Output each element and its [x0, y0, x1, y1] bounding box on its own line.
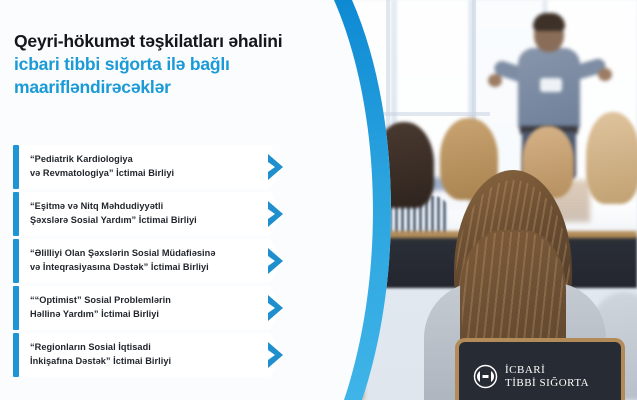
accent-bar — [13, 239, 19, 283]
icbari-tibbi-sigorta-emblem-icon — [473, 364, 498, 389]
list-item-body[interactable]: ““Optimist” Sosial Problemlərin Həllinə … — [19, 286, 283, 330]
list-item-label: “Pediatrik Kardiologiya və Revmatologiya… — [30, 153, 174, 180]
list-item-body[interactable]: “Eşitmə və Nitq Məhdudiyyətli Şəxslərə S… — [19, 192, 283, 236]
chevron-right-icon[interactable] — [265, 199, 287, 229]
list-item-body[interactable]: “Regionların Sosial İqtisadi İnkişafına … — [19, 333, 283, 377]
list-item[interactable]: ““Optimist” Sosial Problemlərin Həllinə … — [13, 286, 283, 330]
list-item-line-2: və Revmatologiya” İctimai Birliyi — [30, 167, 174, 181]
background-photo — [300, 0, 637, 400]
list-item[interactable]: “Əlilliyi Olan Şəxslərin Sosial Müdafiəs… — [13, 239, 283, 283]
list-item[interactable]: “Eşitmə və Nitq Məhdudiyyətli Şəxslərə S… — [13, 192, 283, 236]
list-item-label: “Regionların Sosial İqtisadi İnkişafına … — [30, 341, 171, 368]
list-item-line-1: ““Optimist” Sosial Problemlərin — [30, 294, 171, 308]
chevron-right-icon[interactable] — [265, 246, 287, 276]
list-item-label: “Eşitmə və Nitq Məhdudiyyətli Şəxslərə S… — [30, 200, 197, 227]
accent-bar — [13, 192, 19, 236]
list-item-body[interactable]: “Pediatrik Kardiologiya və Revmatologiya… — [19, 145, 283, 189]
list-item-line-2: Şəxslərə Sosial Yardım” İctimai Birliyi — [30, 214, 197, 228]
logo-line-1: İCBARİ — [505, 364, 589, 377]
logo-text: İCBARİ TİBBİ SIĞORTA — [505, 364, 589, 390]
chevron-right-icon[interactable] — [265, 293, 287, 323]
list-item[interactable]: “Pediatrik Kardiologiya və Revmatologiya… — [13, 145, 283, 189]
list-item-line-1: “Əlilliyi Olan Şəxslərin Sosial Müdafiəs… — [30, 247, 216, 261]
list-item-line-2: İnkişafına Dəstək” İctimai Birliyi — [30, 355, 171, 369]
news-banner: Qeyri-hökumət təşkilatları əhalini icbar… — [0, 0, 637, 400]
logo: İCBARİ TİBBİ SIĞORTA — [473, 364, 589, 390]
audience-person — [300, 300, 364, 400]
page-title: Qeyri-hökumət təşkilatları əhalini icbar… — [14, 30, 344, 99]
list-item-line-1: “Regionların Sosial İqtisadi — [30, 341, 171, 355]
list-item-line-1: “Pediatrik Kardiologiya — [30, 153, 174, 167]
window-mullion — [300, 112, 490, 116]
chevron-right-icon[interactable] — [265, 152, 287, 182]
list-item-line-2: və İnteqrasiyasına Dəstək” İctimai Birli… — [30, 261, 216, 275]
list-item-label: “Əlilliyi Olan Şəxslərin Sosial Müdafiəs… — [30, 247, 216, 274]
ngo-list: “Pediatrik Kardiologiya və Revmatologiya… — [13, 145, 283, 380]
list-item[interactable]: “Regionların Sosial İqtisadi İnkişafına … — [13, 333, 283, 377]
list-item-body[interactable]: “Əlilliyi Olan Şəxslərin Sosial Müdafiəs… — [19, 239, 283, 283]
headline-line-1: Qeyri-hökumət təşkilatları əhalini — [14, 30, 344, 53]
list-item-line-2: Həllinə Yardım” İctimai Birliyi — [30, 308, 171, 322]
accent-bar — [13, 286, 19, 330]
list-item-label: ““Optimist” Sosial Problemlərin Həllinə … — [30, 294, 171, 321]
accent-bar — [13, 333, 19, 377]
list-item-line-1: “Eşitmə və Nitq Məhdudiyyətli — [30, 200, 197, 214]
accent-bar — [13, 145, 19, 189]
headline-line-3: maarifləndirəcəklər — [14, 76, 344, 99]
chevron-right-icon[interactable] — [265, 340, 287, 370]
logo-line-2: TİBBİ SIĞORTA — [505, 377, 589, 390]
headline-line-2: icbari tibbi sığorta ilə bağlı — [14, 53, 344, 76]
